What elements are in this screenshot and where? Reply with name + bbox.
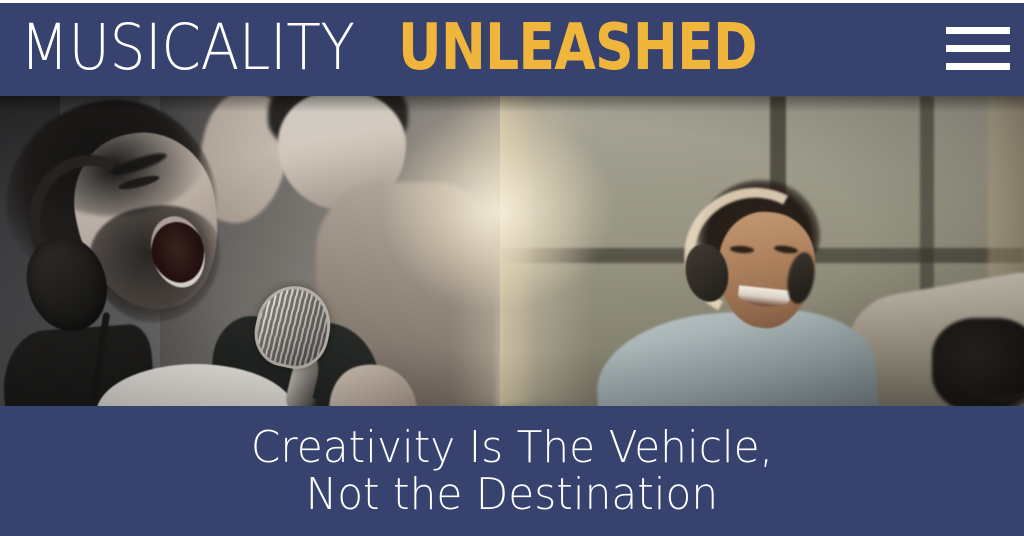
musicality-unleashed-banner: MUSICALITY UNLEASHED [0, 0, 1024, 536]
hamburger-menu-icon[interactable] [946, 26, 1010, 70]
brand-word-unleashed: UNLEASHED [398, 16, 757, 80]
brand-word-musicality: MUSICALITY [20, 16, 355, 79]
caption-bar: Creativity Is The Vehicle, Not the Desti… [0, 406, 1024, 536]
caption-line-1: Creativity Is The Vehicle, [251, 424, 773, 471]
hamburger-line-1 [946, 27, 1010, 34]
header-bar: MUSICALITY UNLEASHED [0, 0, 1024, 96]
hero-photo-artwork [0, 96, 1024, 406]
header-top-hairline [0, 0, 1024, 3]
hero-photo [0, 96, 1024, 406]
lens-flare [382, 110, 612, 310]
hamburger-line-3 [946, 63, 1010, 70]
caption-line-2: Not the Destination [306, 471, 719, 518]
hamburger-line-2 [946, 45, 1010, 52]
brand-logo[interactable]: MUSICALITY UNLEASHED [20, 16, 825, 80]
